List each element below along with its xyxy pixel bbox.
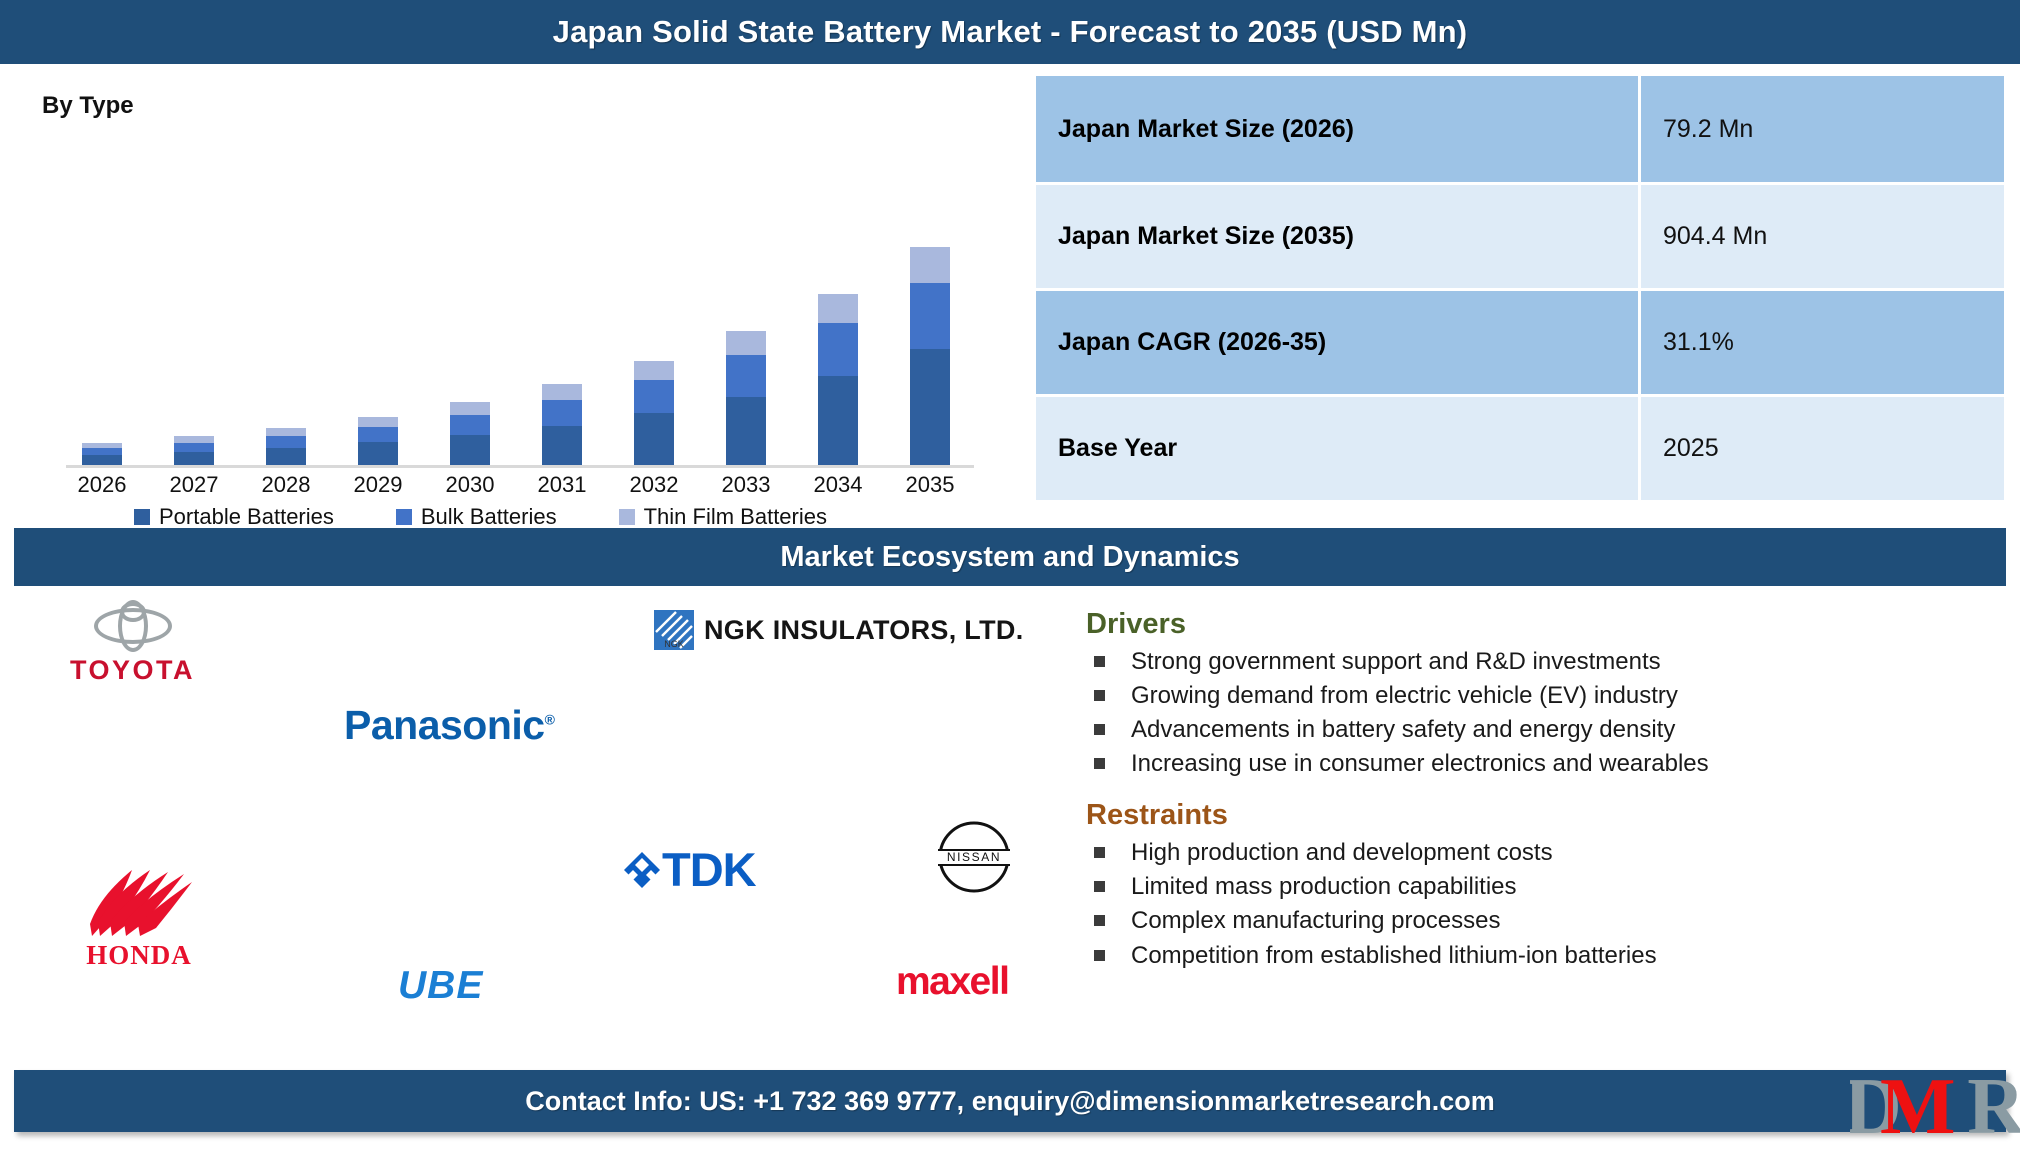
stats-row-label: Japan CAGR (2026-35) <box>1036 288 1638 394</box>
chart-plot-area <box>56 130 976 468</box>
logo-ngk[interactable]: NGK NGK INSULATORS, LTD. <box>654 610 1024 650</box>
stacked-bar-2028[interactable] <box>266 428 306 466</box>
restraint-item: Complex manufacturing processes <box>1086 904 1986 938</box>
square-bullet-icon <box>1094 915 1105 926</box>
stacked-bar-2033[interactable] <box>726 331 766 465</box>
chart-legend: Portable Batteries Bulk Batteries Thin F… <box>134 504 894 530</box>
contact-info: Contact Info: US: +1 732 369 9777, enqui… <box>525 1086 1494 1117</box>
logo-honda[interactable]: HONDA <box>84 862 194 971</box>
dynamics-panel: Drivers Strong government support and R&… <box>1086 608 1986 973</box>
bar-segment-thinfilm <box>266 428 306 436</box>
page-title-band: Japan Solid State Battery Market - Forec… <box>0 0 2020 64</box>
legend-label-thinfilm: Thin Film Batteries <box>644 504 827 530</box>
restraint-item-text: Limited mass production capabilities <box>1131 870 1517 904</box>
panasonic-wordmark: Panasonic® <box>344 702 554 749</box>
stacked-bar-2032[interactable] <box>634 361 674 465</box>
stats-row: Japan Market Size (2026)79.2 Mn <box>1036 76 2004 182</box>
driver-item: Growing demand from electric vehicle (EV… <box>1086 679 1986 713</box>
legend-swatch-icon-thinfilm <box>619 509 635 525</box>
bar-column <box>332 130 424 465</box>
x-tick-label: 2027 <box>148 472 240 498</box>
stacked-bar-2026[interactable] <box>82 443 122 465</box>
x-tick-label: 2032 <box>608 472 700 498</box>
bar-column <box>884 130 976 465</box>
ecosystem-title: Market Ecosystem and Dynamics <box>780 541 1239 574</box>
x-tick-label: 2035 <box>884 472 976 498</box>
bar-column <box>424 130 516 465</box>
bar-segment-thinfilm <box>358 417 398 427</box>
stats-row: Japan Market Size (2035)904.4 Mn <box>1036 182 2004 288</box>
bar-segment-bulk <box>726 355 766 396</box>
ube-wordmark: UBE <box>398 964 483 1008</box>
stats-row-value: 31.1% <box>1638 288 2004 394</box>
square-bullet-icon <box>1094 690 1105 701</box>
square-bullet-icon <box>1094 881 1105 892</box>
driver-item: Advancements in battery safety and energ… <box>1086 713 1986 747</box>
chart-x-axis-line <box>66 465 974 468</box>
restraint-item: Limited mass production capabilities <box>1086 870 1986 904</box>
restraint-item: High production and development costs <box>1086 836 1986 870</box>
bar-segment-thinfilm <box>818 294 858 323</box>
footer-band: Contact Info: US: +1 732 369 9777, enqui… <box>14 1070 2006 1132</box>
logo-nissan[interactable]: NISSAN <box>934 817 1014 897</box>
legend-item-portable[interactable]: Portable Batteries <box>134 504 334 530</box>
logo-ube[interactable]: UBE <box>398 964 483 1008</box>
legend-item-bulk[interactable]: Bulk Batteries <box>396 504 557 530</box>
driver-item-text: Strong government support and R&D invest… <box>1131 645 1661 679</box>
bar-segment-portable <box>910 349 950 465</box>
legend-swatch-icon-bulk <box>396 509 412 525</box>
bar-segment-thinfilm <box>174 436 214 443</box>
logo-panasonic[interactable]: Panasonic® <box>344 702 554 749</box>
svg-text:NGK: NGK <box>664 639 684 649</box>
bar-segment-portable <box>266 448 306 465</box>
legend-item-thinfilm[interactable]: Thin Film Batteries <box>619 504 827 530</box>
dmr-logo[interactable]: DMR M <box>1850 1070 2020 1148</box>
bar-column <box>608 130 700 465</box>
bar-segment-thinfilm <box>450 402 490 415</box>
bar-segment-thinfilm <box>726 331 766 355</box>
bar-segment-bulk <box>82 448 122 455</box>
nissan-wordmark: NISSAN <box>934 850 1014 864</box>
bar-segment-portable <box>450 435 490 465</box>
stats-row-label: Japan Market Size (2026) <box>1036 76 1638 182</box>
bar-segment-portable <box>82 455 122 465</box>
maxell-wordmark: maxell <box>896 960 1008 1004</box>
key-stats-table: Japan Market Size (2026)79.2 MnJapan Mar… <box>1036 76 2004 500</box>
toyota-wordmark: TOYOTA <box>70 655 195 686</box>
driver-item: Strong government support and R&D invest… <box>1086 645 1986 679</box>
tdk-wordmark: TDK <box>662 842 756 897</box>
bar-segment-bulk <box>450 415 490 435</box>
chart-subtitle: By Type <box>42 92 134 120</box>
bar-column <box>792 130 884 465</box>
bar-segment-portable <box>358 442 398 465</box>
legend-label-portable: Portable Batteries <box>159 504 334 530</box>
bar-column <box>516 130 608 465</box>
restraints-list: High production and development costsLim… <box>1086 836 1986 972</box>
bar-segment-bulk <box>542 400 582 425</box>
stacked-bar-2030[interactable] <box>450 402 490 465</box>
bar-segment-thinfilm <box>634 361 674 380</box>
stats-row: Base Year2025 <box>1036 394 2004 500</box>
bar-segment-bulk <box>266 436 306 448</box>
toyota-emblem-icon <box>94 600 172 652</box>
drivers-list: Strong government support and R&D invest… <box>1086 645 1986 781</box>
bar-segment-portable <box>634 413 674 465</box>
driver-item-text: Advancements in battery safety and energ… <box>1131 713 1675 747</box>
page-title: Japan Solid State Battery Market - Forec… <box>553 14 1468 50</box>
x-tick-label: 2034 <box>792 472 884 498</box>
x-tick-label: 2026 <box>56 472 148 498</box>
ngk-mark-icon: NGK <box>654 610 694 650</box>
bar-segment-portable <box>726 397 766 466</box>
infographic-page: Japan Solid State Battery Market - Forec… <box>0 0 2020 1156</box>
chart-x-tick-labels: 2026202720282029203020312032203320342035 <box>56 472 976 498</box>
chart-bars <box>56 130 976 465</box>
ecosystem-band: Market Ecosystem and Dynamics <box>14 528 2006 586</box>
honda-wing-icon <box>84 862 194 944</box>
stats-row-label: Base Year <box>1036 394 1638 500</box>
ngk-wordmark: NGK INSULATORS, LTD. <box>704 615 1024 646</box>
x-tick-label: 2029 <box>332 472 424 498</box>
square-bullet-icon <box>1094 724 1105 735</box>
legend-label-bulk: Bulk Batteries <box>421 504 557 530</box>
bar-segment-bulk <box>174 443 214 452</box>
logo-toyota[interactable]: TOYOTA <box>70 600 195 686</box>
square-bullet-icon <box>1094 847 1105 858</box>
stacked-bar-2029[interactable] <box>358 417 398 465</box>
restraint-item: Competition from established lithium-ion… <box>1086 939 1986 973</box>
bar-segment-portable <box>818 376 858 465</box>
bar-column <box>56 130 148 465</box>
restraint-item-text: High production and development costs <box>1131 836 1553 870</box>
stats-row-label: Japan Market Size (2035) <box>1036 182 1638 288</box>
chart-panel: By Type 20262027202820292030203120322033… <box>14 72 994 492</box>
bar-segment-thinfilm <box>542 384 582 400</box>
company-logos: TOYOTA Panasonic® HONDA <box>14 592 1074 1052</box>
bar-segment-bulk <box>358 427 398 443</box>
stats-row-value: 2025 <box>1638 394 2004 500</box>
stats-row-value: 79.2 Mn <box>1638 76 2004 182</box>
stacked-bar-2035[interactable] <box>910 247 950 465</box>
tdk-diamond-icon <box>622 850 662 890</box>
logo-tdk[interactable]: TDK <box>622 842 756 897</box>
bar-segment-bulk <box>910 283 950 349</box>
square-bullet-icon <box>1094 656 1105 667</box>
bar-segment-portable <box>542 426 582 465</box>
x-tick-label: 2031 <box>516 472 608 498</box>
driver-item: Increasing use in consumer electronics a… <box>1086 747 1986 781</box>
stacked-bar-2031[interactable] <box>542 384 582 465</box>
x-tick-label: 2033 <box>700 472 792 498</box>
bar-segment-bulk <box>634 380 674 412</box>
x-tick-label: 2030 <box>424 472 516 498</box>
bar-column <box>148 130 240 465</box>
stats-row-value: 904.4 Mn <box>1638 182 2004 288</box>
restraint-item-text: Competition from established lithium-ion… <box>1131 939 1657 973</box>
restraints-heading: Restraints <box>1086 799 1986 832</box>
driver-item-text: Increasing use in consumer electronics a… <box>1131 747 1709 781</box>
bar-segment-bulk <box>818 323 858 375</box>
bar-column <box>240 130 332 465</box>
bar-segment-portable <box>174 452 214 465</box>
stacked-bar-2027[interactable] <box>174 436 214 465</box>
square-bullet-icon <box>1094 950 1105 961</box>
restraint-item-text: Complex manufacturing processes <box>1131 904 1501 938</box>
honda-wordmark: HONDA <box>86 940 192 971</box>
driver-item-text: Growing demand from electric vehicle (EV… <box>1131 679 1678 713</box>
x-tick-label: 2028 <box>240 472 332 498</box>
drivers-heading: Drivers <box>1086 608 1986 641</box>
dmr-logo-m: M <box>1880 1070 1956 1148</box>
bar-segment-thinfilm <box>910 247 950 283</box>
square-bullet-icon <box>1094 758 1105 769</box>
stats-row: Japan CAGR (2026-35)31.1% <box>1036 288 2004 394</box>
stacked-bar-2034[interactable] <box>818 294 858 465</box>
logo-maxell[interactable]: maxell <box>896 960 1008 1004</box>
legend-swatch-icon-portable <box>134 509 150 525</box>
bar-column <box>700 130 792 465</box>
